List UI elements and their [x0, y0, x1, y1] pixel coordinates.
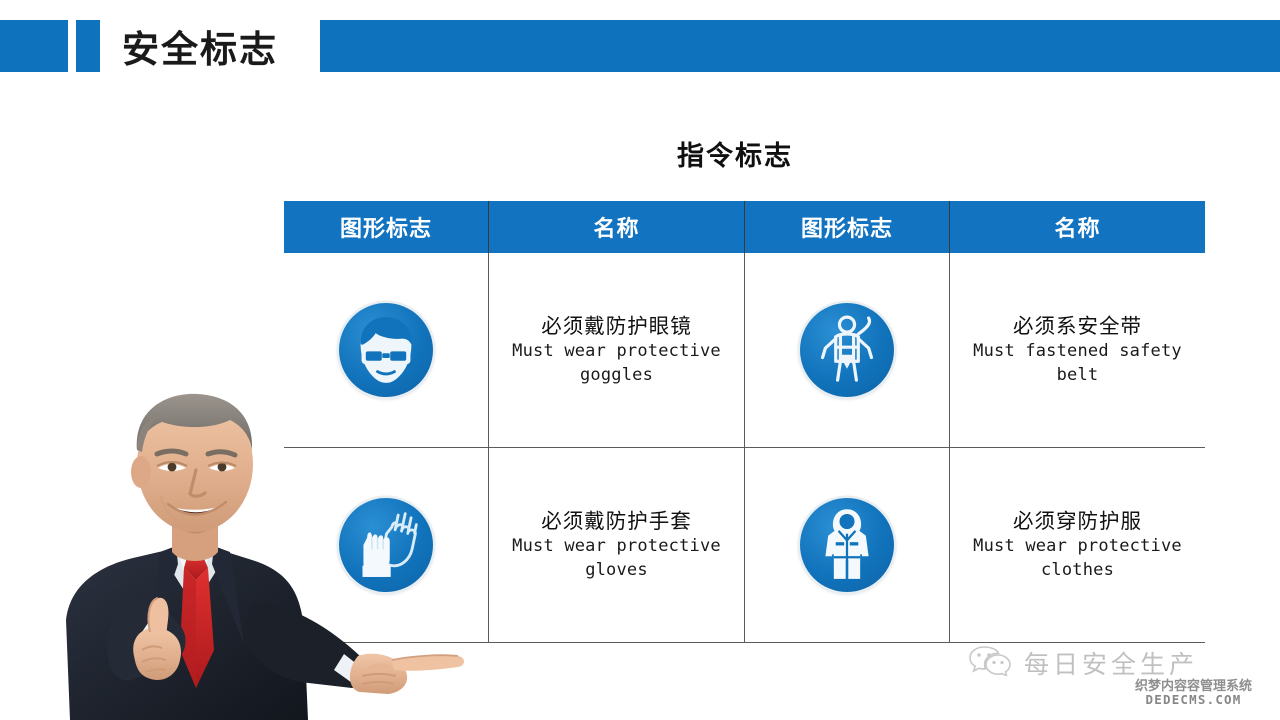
sign-name-cn: 必须系安全带	[951, 313, 1204, 341]
slide-header: 安全标志	[0, 20, 1280, 72]
dedecms-watermark-en: DEDECMS.COM	[1135, 693, 1252, 706]
table-header-row: 图形标志 名称 图形标志 名称	[284, 201, 1205, 253]
cell-icon-goggles	[284, 253, 489, 448]
cell-icon-protective-clothes	[745, 448, 950, 643]
cell-name-safety-belt: 必须系安全带 Must fastened safety belt	[950, 253, 1206, 448]
sign-name-en: Must wear protective goggles	[490, 340, 743, 387]
wechat-watermark: 每日安全生产	[968, 644, 1198, 681]
table-head: 图形标志 名称 图形标志 名称	[284, 201, 1205, 253]
protective-clothes-icon	[800, 498, 894, 592]
cell-name-gloves: 必须戴防护手套 Must wear protective gloves	[489, 448, 745, 643]
page-title: 安全标志	[122, 19, 278, 73]
header-accent-block-large	[0, 20, 68, 72]
table-body: 必须戴防护眼镜 Must wear protective goggles	[284, 253, 1205, 643]
cell-name-goggles: 必须戴防护眼镜 Must wear protective goggles	[489, 253, 745, 448]
dedecms-watermark: 织梦内容容管理系统 DEDECMS.COM	[1135, 679, 1252, 706]
cell-icon-safety-belt	[745, 253, 950, 448]
safety-signs-table: 图形标志 名称 图形标志 名称	[284, 201, 1205, 643]
safety-belt-icon	[800, 303, 894, 397]
column-header-graphic-1: 图形标志	[284, 201, 489, 253]
header-accent-bar	[320, 20, 1280, 72]
slide-canvas: 安全标志 指令标志 图形标志 名称 图形标志 名称	[0, 0, 1280, 720]
table-row: 必须戴防护手套 Must wear protective gloves	[284, 448, 1205, 643]
column-header-name-1: 名称	[489, 201, 745, 253]
table-row: 必须戴防护眼镜 Must wear protective goggles	[284, 253, 1205, 448]
sign-name-cn: 必须穿防护服	[951, 508, 1204, 536]
sign-name-cn: 必须戴防护眼镜	[490, 313, 743, 341]
dedecms-watermark-cn: 织梦内容容管理系统	[1135, 679, 1252, 693]
sign-name-en: Must fastened safety belt	[951, 340, 1204, 387]
wechat-icon	[968, 644, 1012, 681]
protective-gloves-icon	[339, 498, 433, 592]
section-title: 指令标志	[0, 134, 1280, 173]
cell-icon-gloves	[284, 448, 489, 643]
header-accent-block-small	[76, 20, 100, 72]
cell-name-protective-clothes: 必须穿防护服 Must wear protective clothes	[950, 448, 1206, 643]
protective-goggles-icon	[339, 303, 433, 397]
sign-name-en: Must wear protective clothes	[951, 535, 1204, 582]
column-header-name-2: 名称	[950, 201, 1206, 253]
wechat-watermark-label: 每日安全生产	[1024, 645, 1198, 681]
column-header-graphic-2: 图形标志	[745, 201, 950, 253]
sign-name-en: Must wear protective gloves	[490, 535, 743, 582]
sign-name-cn: 必须戴防护手套	[490, 508, 743, 536]
